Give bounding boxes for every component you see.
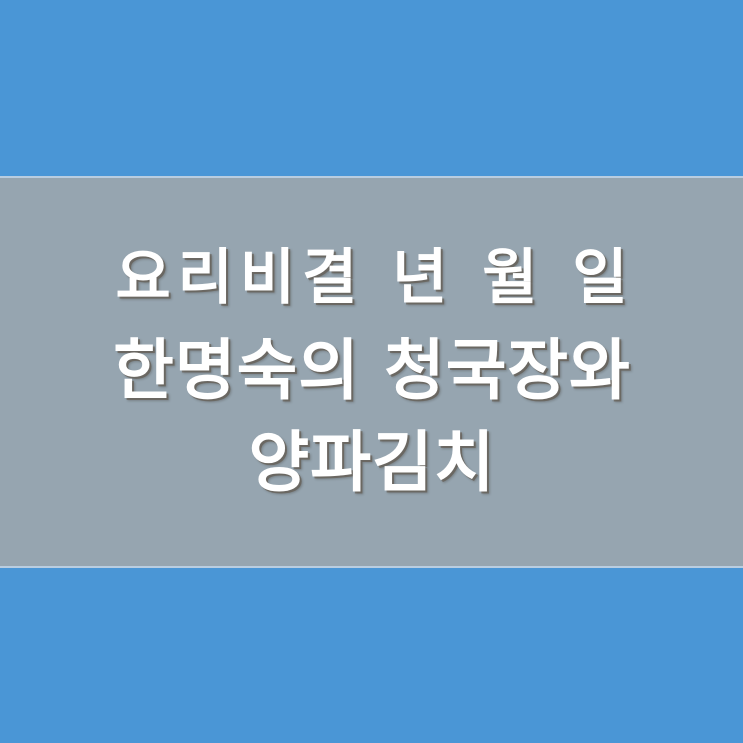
title-line-3: 양파김치	[248, 430, 496, 496]
title-panel: 요리비결 년 월 일 한명숙의 청국장와 양파김치	[0, 176, 743, 568]
bottom-blue-band	[0, 568, 743, 743]
title-line-1: 요리비결 년 월 일	[108, 248, 634, 308]
top-blue-band	[0, 0, 743, 176]
title-line-2: 한명숙의 청국장와	[112, 338, 631, 404]
thumbnail-card: 요리비결 년 월 일 한명숙의 청국장와 양파김치	[0, 0, 743, 743]
